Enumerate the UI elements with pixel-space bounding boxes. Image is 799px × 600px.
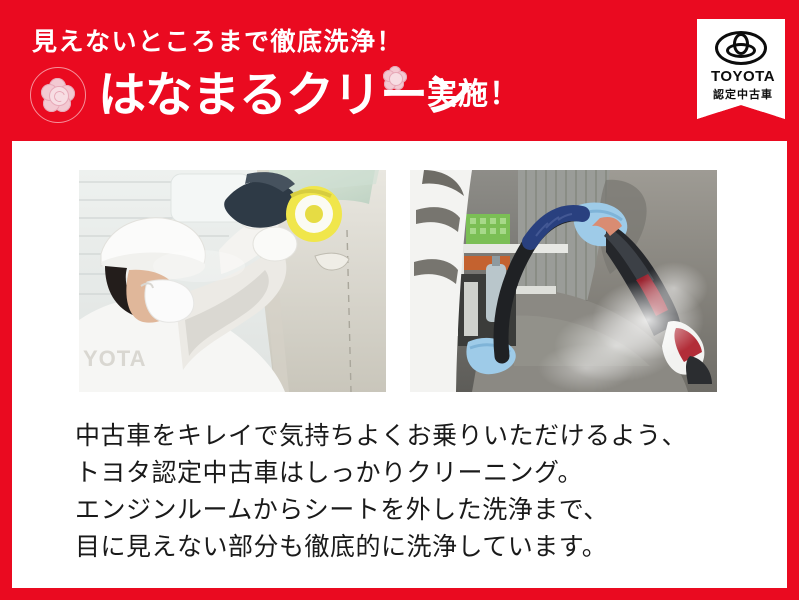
body-copy-line-3: エンジンルームからシートを外した洗浄まで、 [75, 491, 765, 528]
header-tagline: 見えないところまで徹底洗浄！ [32, 27, 403, 57]
action-label: 実施！ [427, 78, 520, 112]
body-copy-line-2: トヨタ認定中古車はしっかりクリーニング。 [75, 454, 765, 491]
toyota-certification-label: 認定中古車 [702, 86, 784, 102]
content-card: YOTA [12, 141, 787, 588]
body-copy-line-1: 中古車をキレイで気持ちよくお乗りいただけるよう、 [75, 417, 765, 454]
hanamaru-flower-icon [30, 67, 86, 123]
svg-text:YOTA: YOTA [83, 346, 146, 371]
hanamaru-flower-small-icon [383, 66, 407, 90]
toyota-emblem-icon [715, 31, 767, 65]
photo-steam-cleaning-image [410, 170, 717, 392]
poster-header: 見えないところまで徹底洗浄！ はなまるクリーン 実施！ [0, 0, 799, 141]
flower-petals [41, 78, 75, 112]
toyota-wordmark: TOYOTA [702, 68, 784, 85]
toyota-badge-inner: TOYOTA 認定中古車 [702, 24, 780, 112]
photo-polishing-image: YOTA [79, 170, 386, 392]
photo-gallery: YOTA [12, 141, 787, 381]
photo-steam-cleaning [410, 170, 717, 392]
photo-polishing: YOTA [79, 170, 386, 392]
toyota-certified-badge: TOYOTA 認定中古車 [697, 19, 785, 119]
brand-name: はなまるクリーン [98, 69, 472, 121]
promo-poster: 見えないところまで徹底洗浄！ はなまるクリーン 実施！ [0, 0, 799, 600]
body-copy: 中古車をキレイで気持ちよくお乗りいただけるよう、 トヨタ認定中古車はしっかりクリ… [75, 417, 765, 565]
body-copy-line-4: 目に見えない部分も徹底的に洗浄しています。 [75, 528, 765, 565]
